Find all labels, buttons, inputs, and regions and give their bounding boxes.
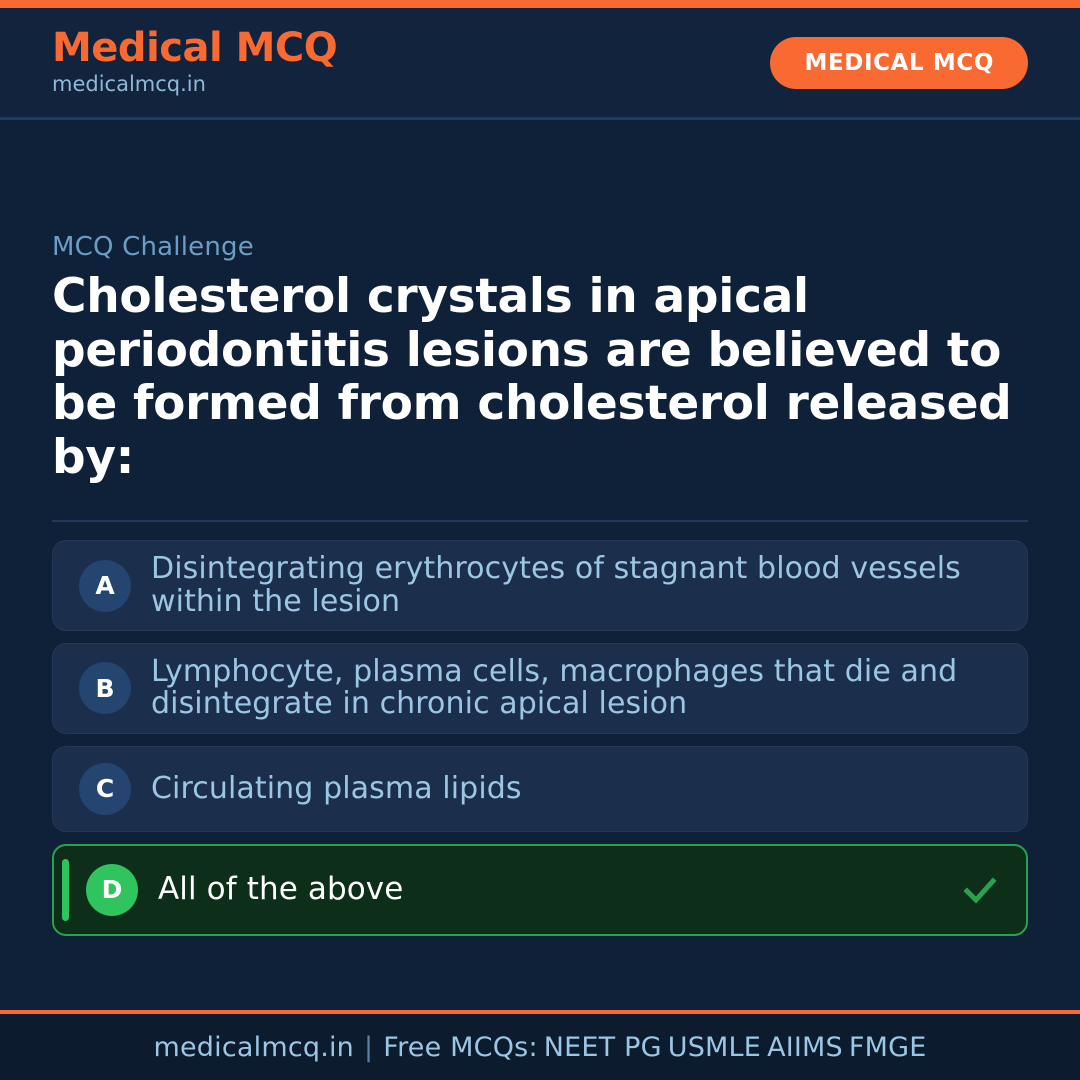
footer-text: medicalmcq.in|Free MCQs:NEET PGUSMLEAIIM… xyxy=(153,1032,926,1063)
option-c-letter: C xyxy=(79,763,131,815)
question-divider xyxy=(52,520,1028,522)
options-list: A Disintegrating erythrocytes of stagnan… xyxy=(52,540,1028,936)
page-footer: medicalmcq.in|Free MCQs:NEET PGUSMLEAIIM… xyxy=(0,1010,1080,1080)
option-c-text: Circulating plasma lipids xyxy=(151,773,1001,805)
footer-label: Free MCQs: xyxy=(383,1032,537,1063)
footer-exam-usmle: USMLE xyxy=(662,1032,761,1063)
option-d[interactable]: D All of the above xyxy=(52,844,1028,936)
eyebrow-label: MCQ Challenge xyxy=(52,232,1028,262)
main-content: MCQ Challenge Cholesterol crystals in ap… xyxy=(0,120,1080,936)
footer-exam-aiims: AIIMS xyxy=(761,1032,843,1063)
option-b-letter: B xyxy=(79,662,131,714)
footer-exam-neetpg: NEET PG xyxy=(538,1032,662,1063)
option-b-text: Lymphocyte, plasma cells, macrophages th… xyxy=(151,656,1001,721)
option-c[interactable]: C Circulating plasma lipids xyxy=(52,746,1028,832)
option-d-letter: D xyxy=(86,864,138,916)
page-header: Medical MCQ medicalmcq.in MEDICAL MCQ xyxy=(0,8,1080,120)
option-b[interactable]: B Lymphocyte, plasma cells, macrophages … xyxy=(52,643,1028,734)
checkmark-icon xyxy=(960,870,1000,910)
option-a-letter: A xyxy=(79,560,131,612)
question-text: Cholesterol crystals in apical periodont… xyxy=(52,270,1028,484)
brand-subtitle: medicalmcq.in xyxy=(52,71,337,98)
header-badge: MEDICAL MCQ xyxy=(770,37,1028,89)
option-a[interactable]: A Disintegrating erythrocytes of stagnan… xyxy=(52,540,1028,631)
option-a-text: Disintegrating erythrocytes of stagnant … xyxy=(151,553,1001,618)
brand-title: Medical MCQ xyxy=(52,27,337,69)
brand-block: Medical MCQ medicalmcq.in xyxy=(52,27,337,98)
footer-exam-fmge: FMGE xyxy=(843,1032,927,1063)
footer-separator: | xyxy=(354,1032,383,1063)
correct-accent-bar xyxy=(62,859,69,921)
footer-site: medicalmcq.in xyxy=(153,1032,354,1063)
top-accent-bar xyxy=(0,0,1080,8)
option-d-text: All of the above xyxy=(158,873,942,906)
